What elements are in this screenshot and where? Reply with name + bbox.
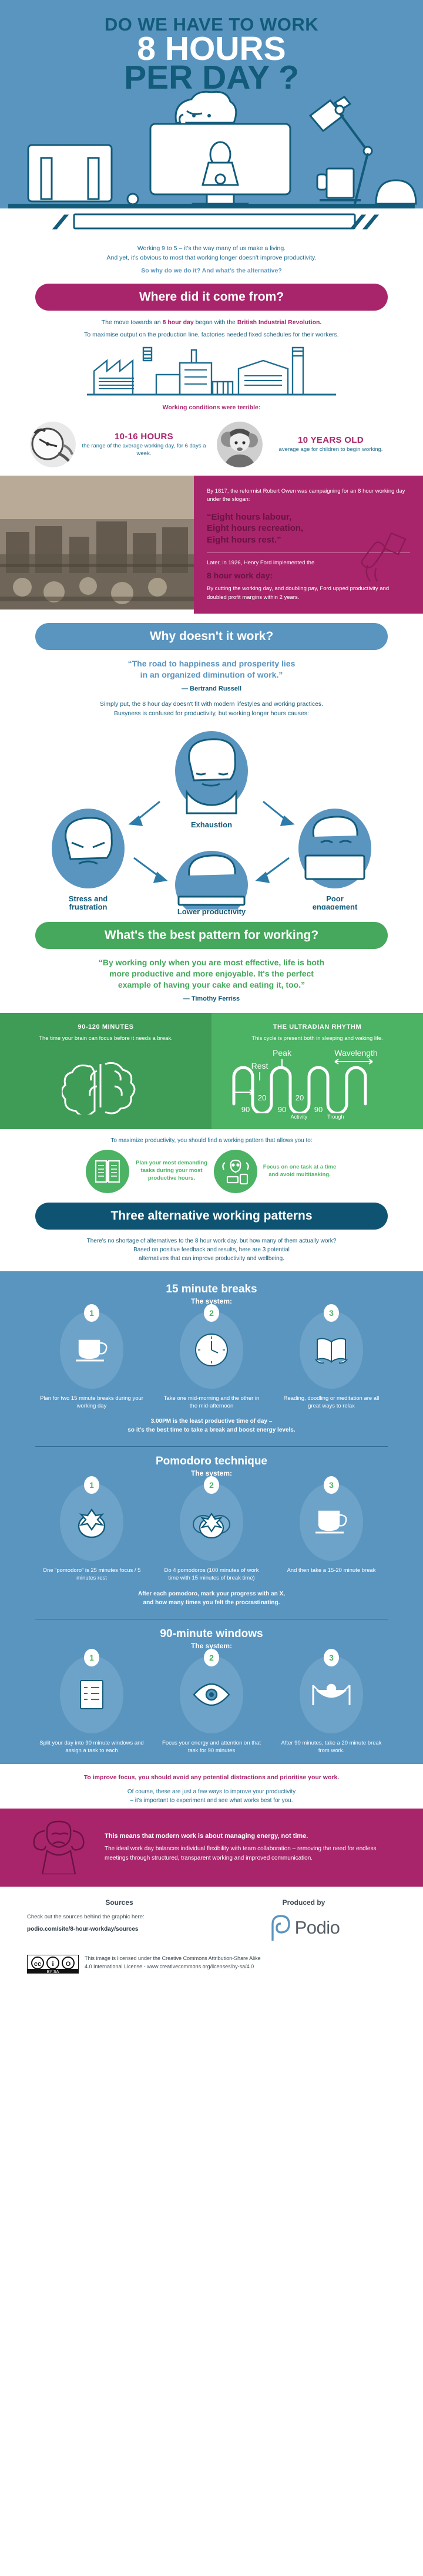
step-number: 1 [84, 1476, 99, 1494]
svg-text:engagement: engagement [313, 903, 358, 910]
history-text: By 1817, the reformist Robert Owen was c… [194, 476, 423, 614]
pocket-watch-photo [30, 422, 76, 467]
intro-line-1: Working 9 to 5 – it's the way many of us… [53, 244, 370, 254]
ford-detail: By cutting the working day, and doubling… [207, 585, 410, 602]
license-text: This image is licensed under the Creativ… [85, 1955, 261, 1971]
pattern-divider [35, 1619, 388, 1619]
license-line-2: 4.0 International License - www.creative… [85, 1963, 261, 1971]
stat-number: 10 YEARS OLD [268, 435, 393, 445]
step-number: 2 [204, 1304, 219, 1322]
alt-lead-1: There's no shortage of alternatives to t… [41, 1237, 382, 1245]
svg-text:O: O [66, 1961, 71, 1968]
green-panels: 90-120 MINUTES The time your brain can f… [0, 1013, 423, 1129]
step-item: 1 Split your day into 90 minute windows … [36, 1656, 147, 1755]
stat-item: 10 YEARS OLD average age for children to… [217, 422, 393, 467]
stat-description: the range of the average working day, fo… [82, 443, 206, 458]
footer: Sources Check out the sources behind the… [0, 1887, 423, 1952]
intro-line-2: And yet, it's obvious to most that worki… [53, 254, 370, 263]
history-banner: By 1817, the reformist Robert Owen was c… [0, 476, 423, 614]
step-number: 3 [324, 1649, 339, 1666]
step-caption: And then take a 15-20 minute break [276, 1567, 387, 1574]
stat-description: average age for children to begin workin… [268, 446, 393, 454]
clock-icon: 2 [180, 1311, 243, 1389]
intro-question: So why do we do it? And what's the alter… [53, 267, 370, 276]
step-caption: Do 4 pomodoros (100 minutes of work time… [156, 1567, 267, 1582]
vintage-factory-workers-photo [0, 476, 194, 614]
section-heading-pattern: What's the best pattern for working? [35, 922, 388, 949]
stat-item: 10-16 HOURS the range of the average wor… [30, 422, 206, 467]
keyboard-strip [0, 208, 423, 235]
factory-illustration [82, 343, 341, 397]
pattern-90-minute-windows: 90-minute windows The system: 1 Split yo… [0, 1628, 423, 1759]
alternatives-lead: There's no shortage of alternatives to t… [0, 1230, 423, 1271]
sources-heading: Sources [27, 1898, 211, 1907]
wave-trough-label: Trough [327, 1114, 344, 1120]
step-item: 1 One “pomodoro” is 25 minutes focus / 5… [36, 1483, 147, 1582]
plant-icon [376, 180, 416, 204]
quote-line-2: in an organized diminution of work.” [47, 669, 376, 681]
pattern-title: 15 minute breaks [23, 1283, 399, 1296]
tips-lead: To maximize productivity, you should fin… [0, 1129, 423, 1150]
frustrated-face-icon [52, 809, 125, 888]
wave-wavelength-label: Wavelength [334, 1048, 377, 1058]
tip-text: Plan your most demanding tasks during yo… [134, 1160, 209, 1182]
why-lead-line-2: Busyness is confused for productivity, b… [35, 709, 388, 718]
origin-sub: To maximise output on the production lin… [35, 330, 388, 339]
svg-text:frustration: frustration [69, 903, 108, 910]
sources-url[interactable]: podio.com/site/8-hour-workday/sources [27, 1926, 211, 1932]
pattern-note: After each pomodoro, mark your progress … [23, 1582, 399, 1607]
step-caption: Reading, doodling or meditation are all … [276, 1395, 387, 1410]
step-number: 2 [204, 1649, 219, 1666]
pattern-15-minute-breaks: 15 minute breaks The system: 1 Plan for … [0, 1283, 423, 1439]
pattern-steps: 1 One “pomodoro” is 25 minutes focus / 5… [23, 1483, 399, 1582]
stat-text: 10-16 HOURS the range of the average wor… [82, 432, 206, 458]
planner-notebook-icon [86, 1150, 129, 1193]
note-line-2: so it's the best time to take a break an… [76, 1426, 347, 1435]
license-block: cc i O BY SA This image is licensed unde… [0, 1952, 423, 1989]
produced-column: Produced by Podio [211, 1898, 396, 1942]
pattern-title: 90-minute windows [23, 1628, 399, 1641]
infographic-page: DO WE HAVE TO WORK 8 HOURS PER DAY ? [0, 0, 423, 1989]
ultradian-wave-diagram: 20 20 90 90 90 Peak Rest Wavelength [229, 1043, 405, 1113]
child-workers-photo [217, 422, 263, 467]
step-caption: Focus your energy and attention on that … [156, 1739, 267, 1755]
burnout-cycle-diagram: Exhaustion Poor engagement Stress and fr… [0, 728, 423, 910]
tired-face-icon [175, 731, 248, 813]
quote-author: — Bertrand Russell [47, 685, 376, 692]
origin-section: The move towards an 8 hour day began wit… [0, 311, 423, 419]
laptop-icon [28, 145, 112, 201]
podio-mark-icon [268, 1914, 293, 1942]
stat-text: 10 YEARS OLD average age for children to… [268, 435, 393, 454]
cc-by-sa-badge: cc i O BY SA [27, 1955, 79, 1976]
license-line-1: This image is licensed under the Creativ… [85, 1955, 261, 1963]
panel-title: THE ULTRADIAN RHYTHM [227, 1023, 408, 1031]
tip-text: Focus on one task at a time and avoid mu… [262, 1164, 337, 1179]
section-heading-why: Why doesn't it work? [35, 623, 388, 650]
four-tomatoes-icon: 2 [180, 1483, 243, 1561]
closing-note-3: – it's important to experiment and see w… [41, 1796, 382, 1805]
russell-quote: “The road to happiness and prosperity li… [0, 650, 423, 695]
ferriss-line-3: example of having your cake and eating i… [47, 979, 376, 991]
ferriss-author: — Timothy Ferriss [47, 995, 376, 1002]
pattern-pomodoro: Pomodoro technique The system: 1 One “po… [0, 1455, 423, 1611]
closing-body: The ideal work day balances individual f… [105, 1844, 399, 1863]
wave-off-2: 20 [296, 1093, 304, 1102]
intro-section: Working 9 to 5 – it's the way many of us… [0, 235, 423, 284]
podio-wordmark: Podio [295, 1917, 340, 1938]
pattern-title: Pomodoro technique [23, 1455, 399, 1468]
step-number: 1 [84, 1304, 99, 1322]
quote-line-1: “The road to happiness and prosperity li… [47, 658, 376, 669]
closing-text: This means that modern work is about man… [105, 1833, 399, 1863]
step-number: 3 [324, 1304, 339, 1322]
closing-note-2: Of course, these are just a few ways to … [41, 1787, 382, 1796]
tip-item: Focus on one task at a time and avoid mu… [214, 1150, 337, 1193]
why-lead-line-1: Simply put, the 8 hour day doesn't fit w… [35, 699, 388, 709]
tip-item: Plan your most demanding tasks during yo… [86, 1150, 209, 1193]
patterns-block: 15 minute breaks The system: 1 Plan for … [0, 1271, 423, 1765]
step-item: 1 Plan for two 15 minute breaks during y… [36, 1311, 147, 1410]
step-number: 1 [84, 1649, 99, 1666]
panel-ultradian-rhythm: THE ULTRADIAN RHYTHM This cycle is prese… [211, 1013, 423, 1129]
podio-logo: Podio [211, 1914, 396, 1942]
step-item: 3 Reading, doodling or meditation are al… [276, 1311, 387, 1410]
origin-lead-d: British Industrial Revolution. [237, 319, 322, 326]
closing-note-1: To improve focus, you should avoid any p… [41, 1773, 382, 1783]
hero-section: DO WE HAVE TO WORK 8 HOURS PER DAY ? [0, 0, 423, 208]
cycle-label-poor-engagement: Poor [326, 894, 344, 903]
hammock-relax-icon: 3 [300, 1656, 363, 1733]
wave-on-1: 90 [241, 1105, 250, 1113]
ferriss-line-2: more productive and more enjoyable. It's… [47, 968, 376, 979]
why-lead: Simply put, the 8 hour day doesn't fit w… [0, 695, 423, 726]
step-number: 3 [324, 1476, 339, 1494]
coffee-cup-icon: 3 [300, 1483, 363, 1561]
pattern-steps: 1 Split your day into 90 minute windows … [23, 1656, 399, 1755]
svg-text:BY SA: BY SA [47, 1970, 59, 1974]
sources-column: Sources Check out the sources behind the… [27, 1898, 211, 1942]
wave-peak-label: Peak [273, 1048, 292, 1058]
wave-on-2: 90 [278, 1105, 286, 1113]
step-caption: After 90 minutes, take a 20 minute break… [276, 1739, 387, 1755]
origin-lead-c: began with the [194, 319, 237, 326]
cycle-label-stress: Stress and [69, 894, 108, 903]
origin-stats: 10-16 HOURS the range of the average wor… [0, 419, 423, 476]
owen-intro: By 1817, the reformist Robert Owen was c… [207, 487, 410, 504]
stat-number: 10-16 HOURS [82, 432, 206, 442]
svg-text:cc: cc [34, 1961, 41, 1968]
brain-icon [62, 1051, 150, 1114]
pattern-note: 3.00PM is the least productive time of d… [23, 1410, 399, 1435]
note-line-2: and how many times you felt the procrast… [76, 1598, 347, 1607]
ferriss-quote: “By working only when you are most effec… [0, 949, 423, 1005]
origin-lead: The move towards an 8 hour day began wit… [35, 318, 388, 327]
stressed-person-icon [23, 1818, 94, 1877]
coffee-mug-icon [317, 169, 361, 200]
step-item: 2 Do 4 pomodoros (100 minutes of work ti… [156, 1483, 267, 1582]
panel-90-120-minutes: 90-120 MINUTES The time your brain can f… [0, 1013, 211, 1129]
section-heading-origin: Where did it come from? [35, 284, 388, 311]
step-caption: Split your day into 90 minute windows an… [36, 1739, 147, 1755]
pattern-steps: 1 Plan for two 15 minute breaks during y… [23, 1311, 399, 1410]
open-book-icon: 3 [300, 1311, 363, 1389]
step-caption: One “pomodoro” is 25 minutes focus / 5 m… [36, 1567, 147, 1582]
alt-lead-3: alternatives that can improve productivi… [41, 1254, 382, 1263]
tomato-icon: 1 [60, 1483, 123, 1561]
hammer-fist-icon [355, 527, 414, 584]
step-caption: Take one mid-morning and the other in th… [156, 1395, 267, 1410]
coffee-cup-icon: 1 [60, 1311, 123, 1389]
pattern-divider [35, 1446, 388, 1447]
step-number: 2 [204, 1476, 219, 1494]
wave-rest-label: Rest [251, 1061, 268, 1070]
desk-illustration [0, 82, 423, 208]
panel-text: The time your brain can focus before it … [18, 1035, 194, 1043]
task-list-icon: 1 [60, 1656, 123, 1733]
step-item: 3 And then take a 15-20 minute break [276, 1483, 387, 1582]
alt-lead-2: Based on positive feedback and results, … [41, 1245, 382, 1254]
step-item: 2 Take one mid-morning and the other in … [156, 1311, 267, 1410]
step-item: 2 Focus your energy and attention on tha… [156, 1656, 267, 1755]
person-icon [176, 92, 236, 124]
conditions-title: Working conditions were terrible: [35, 403, 388, 412]
sources-text: Check out the sources behind the graphic… [27, 1914, 211, 1920]
slogan-line-1: “Eight hours labour, [207, 511, 410, 523]
panel-text: This cycle is present both in sleeping a… [227, 1035, 408, 1043]
wave-on-3: 90 [314, 1105, 323, 1113]
multitasking-person-icon [214, 1150, 257, 1193]
note-line-1: 3.00PM is the least productive time of d… [76, 1417, 347, 1426]
ferriss-line-1: “By working only when you are most effec… [47, 957, 376, 968]
closing-headline: This means that modern work is about man… [105, 1833, 399, 1840]
closing-banner: This means that modern work is about man… [0, 1809, 423, 1887]
origin-lead-b: 8 hour day [163, 319, 194, 326]
wave-off-1: 20 [258, 1093, 266, 1102]
produced-heading: Produced by [211, 1898, 396, 1907]
section-heading-alternatives: Three alternative working patterns [35, 1203, 388, 1230]
step-item: 3 After 90 minutes, take a 20 minute bre… [276, 1656, 387, 1755]
laptop-slump-icon [298, 809, 371, 888]
closing-lead: To improve focus, you should avoid any p… [0, 1764, 423, 1809]
step-caption: Plan for two 15 minute breaks during you… [36, 1395, 147, 1410]
origin-lead-a: The move towards an [102, 319, 163, 326]
eye-focus-icon: 2 [180, 1656, 243, 1733]
wave-activity-label: Activity [291, 1114, 308, 1120]
tips-row: Plan your most demanding tasks during yo… [0, 1150, 423, 1203]
note-line-1: After each pomodoro, mark your progress … [76, 1590, 347, 1598]
sleeping-desk-icon [175, 851, 248, 910]
cycle-label-exhaustion: Exhaustion [191, 820, 232, 829]
panel-title: 90-120 MINUTES [18, 1023, 194, 1031]
